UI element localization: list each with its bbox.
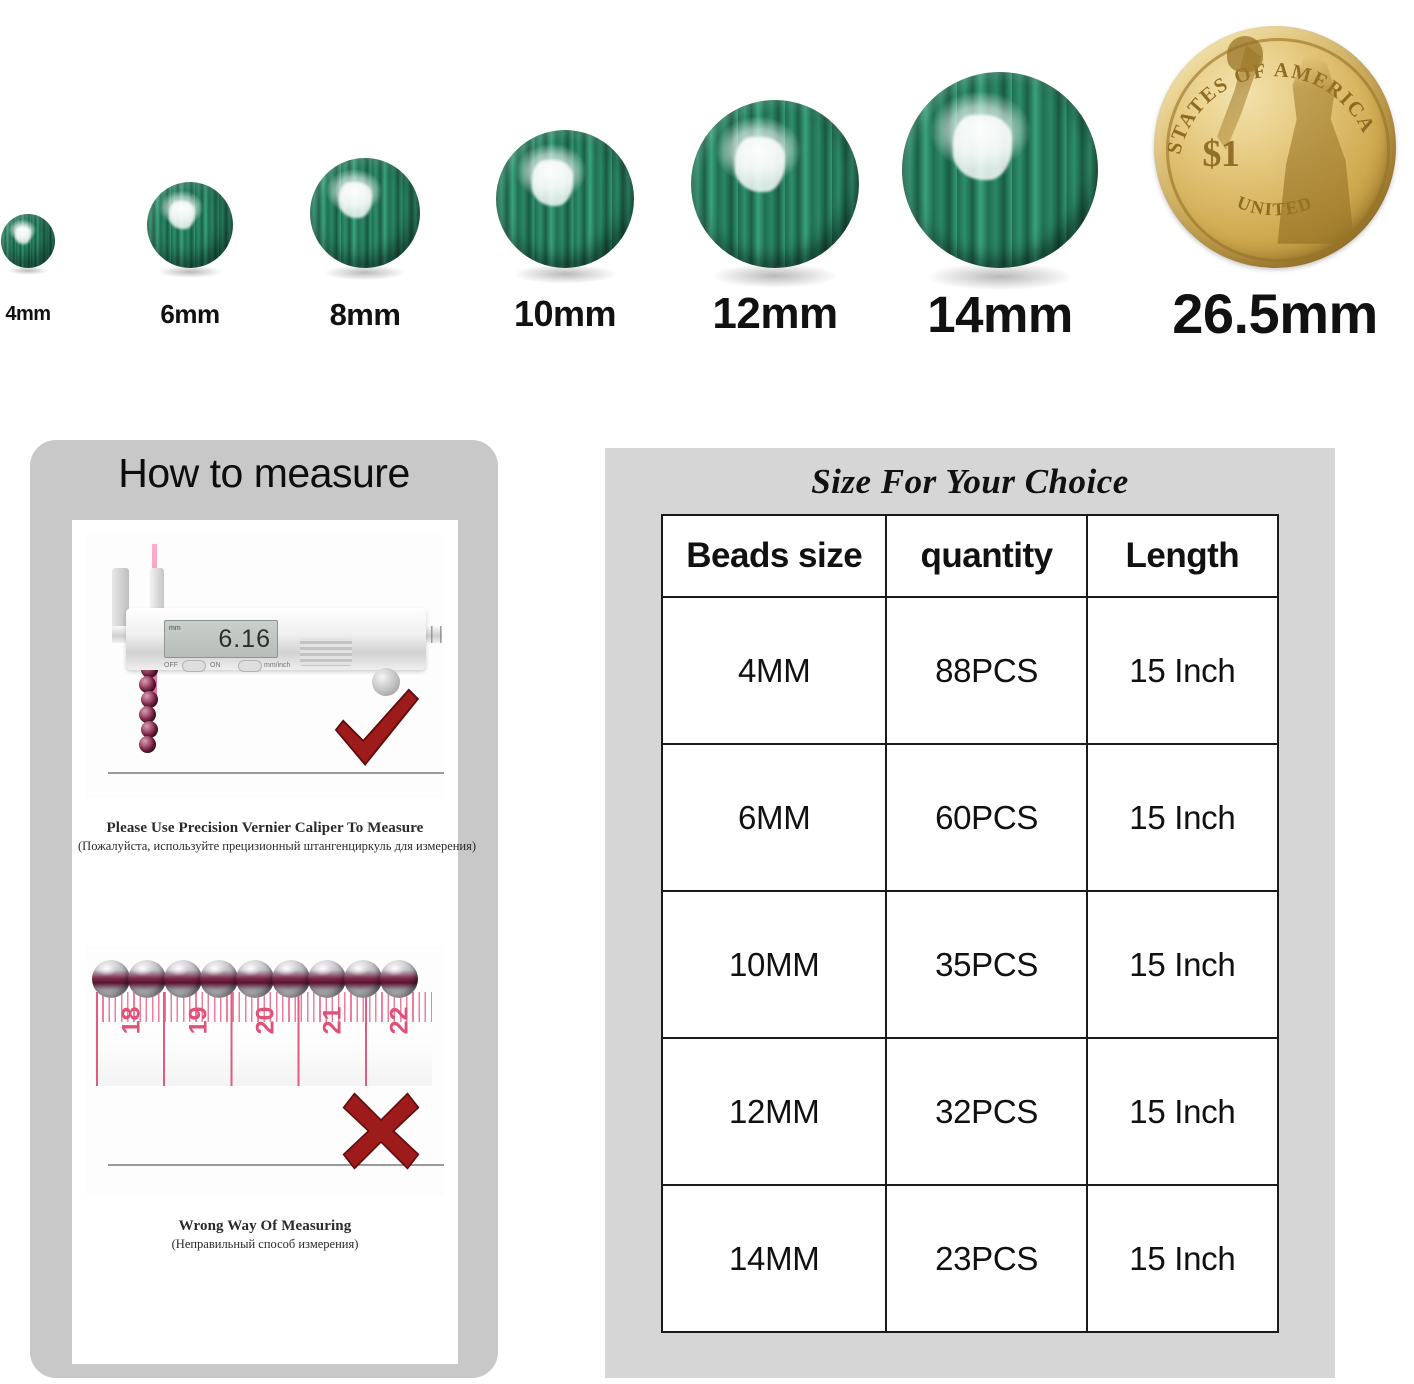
tape-number: 19: [186, 1007, 211, 1035]
caliper-on-label: ON: [210, 662, 221, 669]
bead-comparison-item: 14mm: [902, 3, 1098, 350]
coin-denomination: $1: [1202, 132, 1239, 176]
bead-comparison-item: 10mm: [496, 3, 634, 350]
bead-size-label: 4mm: [5, 278, 50, 350]
bead-size-label: 10mm: [514, 278, 616, 350]
dollar-coin: STATES OF AMERICAUNITED$1: [1154, 26, 1396, 268]
bead-size-label: 6mm: [160, 278, 219, 350]
cell-length: 15 Inch: [1087, 1185, 1278, 1332]
malachite-bead: [496, 130, 634, 268]
caliper-off-label: OFF: [164, 662, 178, 669]
bead-comparison-item: 4mm: [1, 3, 55, 350]
cell-beads-size: 10MM: [662, 891, 886, 1038]
cell-beads-size: 14MM: [662, 1185, 886, 1332]
correct-caption-en: Please Use Precision Vernier Caliper To …: [78, 820, 452, 837]
bead-highlight: [532, 160, 573, 206]
cell-length: 15 Inch: [1087, 1038, 1278, 1185]
malachite-bead: [310, 158, 420, 268]
coin-comparison-item: STATES OF AMERICAUNITED$126.5mm: [1154, 3, 1396, 350]
tape-number: 21: [320, 1007, 345, 1035]
column-header-length: Length: [1087, 515, 1278, 597]
correct-caption-ru: (Пожалуйста, используйте прецизионный шт…: [78, 839, 452, 854]
cell-length: 15 Inch: [1087, 744, 1278, 891]
coin-legend-text: STATES OF AMERICAUNITED: [1154, 26, 1396, 268]
cell-beads-size: 12MM: [662, 1038, 886, 1185]
bead-highlight: [735, 137, 785, 192]
caliper-lcd-unit: mm: [169, 625, 181, 632]
wrong-method-caption: Wrong Way Of Measuring (Неправильный спо…: [78, 1218, 452, 1252]
wrong-caption-en: Wrong Way Of Measuring: [78, 1218, 452, 1235]
caliper-on-button: [238, 660, 262, 672]
malachite-bead: [691, 100, 859, 268]
caliper-lcd-value: 6.16: [218, 624, 271, 654]
size-chart-title: Size For Your Choice: [605, 462, 1335, 502]
caliper-off-button: [182, 660, 206, 672]
column-header-quantity: quantity: [886, 515, 1086, 597]
table-row: 12MM32PCS15 Inch: [662, 1038, 1278, 1185]
correct-method-caption: Please Use Precision Vernier Caliper To …: [78, 820, 452, 854]
bead-size-label: 26.5mm: [1172, 278, 1378, 350]
cross-icon: [342, 1092, 420, 1170]
malachite-bead: [1, 214, 55, 268]
bead-size-comparison-row: 4mm6mm8mm10mm12mm14mmSTATES OF AMERICAUN…: [0, 0, 1414, 350]
malachite-bead: [902, 72, 1098, 268]
wrong-caption-ru: (Неправильный способ измерения): [78, 1237, 452, 1252]
bead-highlight: [953, 115, 1012, 180]
cell-quantity: 32PCS: [886, 1038, 1086, 1185]
cell-length: 15 Inch: [1087, 597, 1278, 744]
table-row: 4MM88PCS15 Inch: [662, 597, 1278, 744]
bead-size-label: 12mm: [712, 278, 837, 350]
bead-highlight: [169, 201, 195, 229]
steel-bead-strand: [92, 960, 436, 998]
cell-quantity: 23PCS: [886, 1185, 1086, 1332]
tape-number: 18: [119, 1007, 144, 1035]
how-to-measure-title: How to measure: [30, 450, 498, 497]
cell-quantity: 88PCS: [886, 597, 1086, 744]
cell-beads-size: 4MM: [662, 597, 886, 744]
malachite-bead: [147, 182, 233, 268]
cell-quantity: 35PCS: [886, 891, 1086, 1038]
check-icon: [330, 688, 422, 770]
column-header-beads-size: Beads size: [662, 515, 886, 597]
svg-text:STATES OF AMERICA: STATES OF AMERICA: [1163, 59, 1379, 156]
bead-highlight: [339, 182, 372, 218]
card-divider: [108, 772, 444, 774]
cell-quantity: 60PCS: [886, 744, 1086, 891]
table-header-row: Beads size quantity Length: [662, 515, 1278, 597]
how-to-measure-panel: How to measure: [30, 440, 498, 1378]
caliper-photo: mm 6.16 OFF ON mm/inch: [86, 534, 444, 798]
cell-length: 15 Inch: [1087, 891, 1278, 1038]
wrong-method-card: 18 19 20 21 22 Wrong Way Of Measuring (Н…: [72, 932, 458, 1364]
caliper-unit-label: mm/inch: [264, 662, 290, 669]
size-chart-panel: Size For Your Choice Beads size quantity…: [605, 448, 1335, 1378]
tape-number: 20: [253, 1007, 278, 1035]
tape-number: 22: [387, 1007, 412, 1035]
bead-comparison-item: 6mm: [147, 3, 233, 350]
bead-comparison-item: 12mm: [691, 3, 859, 350]
caliper-lcd-screen: mm 6.16: [164, 620, 278, 658]
correct-method-card: mm 6.16 OFF ON mm/inch Please Use Pr: [72, 520, 458, 960]
bead-highlight: [15, 226, 31, 244]
bead-size-label: 8mm: [330, 278, 401, 350]
cell-beads-size: 6MM: [662, 744, 886, 891]
table-row: 10MM35PCS15 Inch: [662, 891, 1278, 1038]
size-chart-table: Beads size quantity Length 4MM88PCS15 In…: [661, 514, 1279, 1333]
table-row: 6MM60PCS15 Inch: [662, 744, 1278, 891]
caliper-thumb-roller: [300, 638, 352, 666]
table-row: 14MM23PCS15 Inch: [662, 1185, 1278, 1332]
bead-comparison-item: 8mm: [310, 3, 420, 350]
tape-measure-photo: 18 19 20 21 22: [86, 946, 444, 1196]
